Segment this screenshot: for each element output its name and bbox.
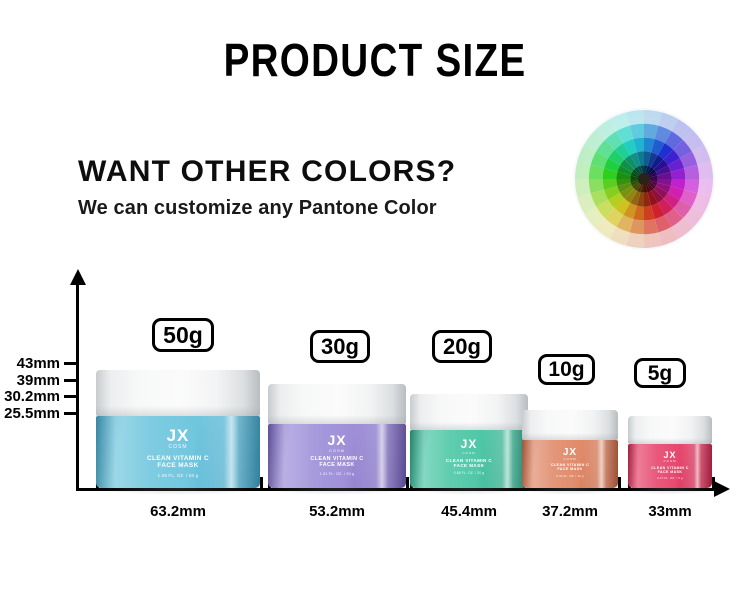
y-axis-tick	[64, 379, 78, 382]
jar-logo: JX	[96, 426, 260, 445]
jar-volume: 0.17 FL. OZ. / 5 g	[628, 477, 712, 480]
weight-badge: 30g	[310, 330, 370, 363]
y-axis-label: 25.5mm	[4, 406, 60, 421]
weight-badge: 5g	[634, 358, 686, 388]
jar-logo-subtext: COSM	[410, 452, 528, 455]
jar-product-type: FACE MASK	[410, 463, 528, 468]
product-jar: JXCOSMCLEAN VITAMIN CFACE MASK1.01 FL. O…	[268, 384, 406, 488]
jar-label: JXCOSMCLEAN VITAMIN CFACE MASK1.69 FL. O…	[96, 426, 260, 479]
jar-logo-subtext: COSM	[522, 458, 618, 461]
y-axis-tick	[64, 395, 78, 398]
jar-label: JXCOSMCLEAN VITAMIN CFACE MASK0.34 FL. O…	[522, 447, 618, 478]
y-axis-arrow-icon	[70, 269, 86, 285]
jar-body: JXCOSMCLEAN VITAMIN CFACE MASK0.68 FL. O…	[410, 430, 528, 488]
y-axis-label: 43mm	[17, 356, 60, 371]
jar-lid	[410, 394, 528, 430]
jar-product-type: FACE MASK	[522, 467, 618, 471]
jar-body: JXCOSMCLEAN VITAMIN CFACE MASK1.01 FL. O…	[268, 424, 406, 488]
jar-volume: 1.69 FL. OZ. / 50 g	[96, 474, 260, 479]
jar-logo: JX	[410, 438, 528, 451]
jar-logo-subtext: COSM	[96, 445, 260, 451]
jar-volume: 0.68 FL. OZ. / 20 g	[410, 472, 528, 476]
product-jar: JXCOSMCLEAN VITAMIN CFACE MASK1.69 FL. O…	[96, 370, 260, 488]
product-jar: JXCOSMCLEAN VITAMIN CFACE MASK0.17 FL. O…	[628, 416, 712, 488]
product-size-chart: 43mm39mm30.2mm25.5mm 63.2mm53.2mm45.4mm3…	[0, 0, 750, 600]
jar-lid	[96, 370, 260, 416]
y-axis-label: 30.2mm	[4, 389, 60, 404]
product-jar: JXCOSMCLEAN VITAMIN CFACE MASK0.68 FL. O…	[410, 394, 528, 488]
x-axis-label: 63.2mm	[96, 503, 260, 520]
y-axis-tick	[64, 412, 78, 415]
jar-product-type: FACE MASK	[268, 462, 406, 468]
jar-product-type: FACE MASK	[96, 462, 260, 469]
jar-product-type: FACE MASK	[628, 470, 712, 474]
jar-lid	[522, 410, 618, 440]
jar-lid	[268, 384, 406, 424]
jar-label: JXCOSMCLEAN VITAMIN CFACE MASK0.17 FL. O…	[628, 450, 712, 480]
jar-logo-subtext: COSM	[628, 460, 712, 463]
jar-body: JXCOSMCLEAN VITAMIN CFACE MASK1.69 FL. O…	[96, 416, 260, 488]
x-axis-label: 33mm	[628, 503, 712, 520]
jar-logo-subtext: COSM	[268, 449, 406, 453]
jar-logo: JX	[268, 433, 406, 449]
jar-body: JXCOSMCLEAN VITAMIN CFACE MASK0.34 FL. O…	[522, 440, 618, 488]
product-jar: JXCOSMCLEAN VITAMIN CFACE MASK0.34 FL. O…	[522, 410, 618, 488]
jar-lid	[628, 416, 712, 444]
x-axis-label: 53.2mm	[268, 503, 406, 520]
jar-body: JXCOSMCLEAN VITAMIN CFACE MASK0.17 FL. O…	[628, 444, 712, 488]
jar-volume: 0.34 FL. OZ. / 10 g	[522, 475, 618, 478]
x-axis-label: 37.2mm	[522, 503, 618, 520]
x-axis-label: 45.4mm	[410, 503, 528, 520]
jar-volume: 1.01 FL. OZ. / 30 g	[268, 472, 406, 476]
y-axis-label: 39mm	[17, 373, 60, 388]
weight-badge: 10g	[538, 354, 595, 385]
jar-label: JXCOSMCLEAN VITAMIN CFACE MASK1.01 FL. O…	[268, 433, 406, 476]
y-axis-line	[76, 283, 79, 491]
jar-product-line: CLEAN VITAMIN C	[96, 455, 260, 462]
weight-badge: 50g	[152, 318, 214, 352]
jar-label: JXCOSMCLEAN VITAMIN CFACE MASK0.68 FL. O…	[410, 438, 528, 476]
y-axis-tick	[64, 362, 78, 365]
weight-badge: 20g	[432, 330, 492, 363]
